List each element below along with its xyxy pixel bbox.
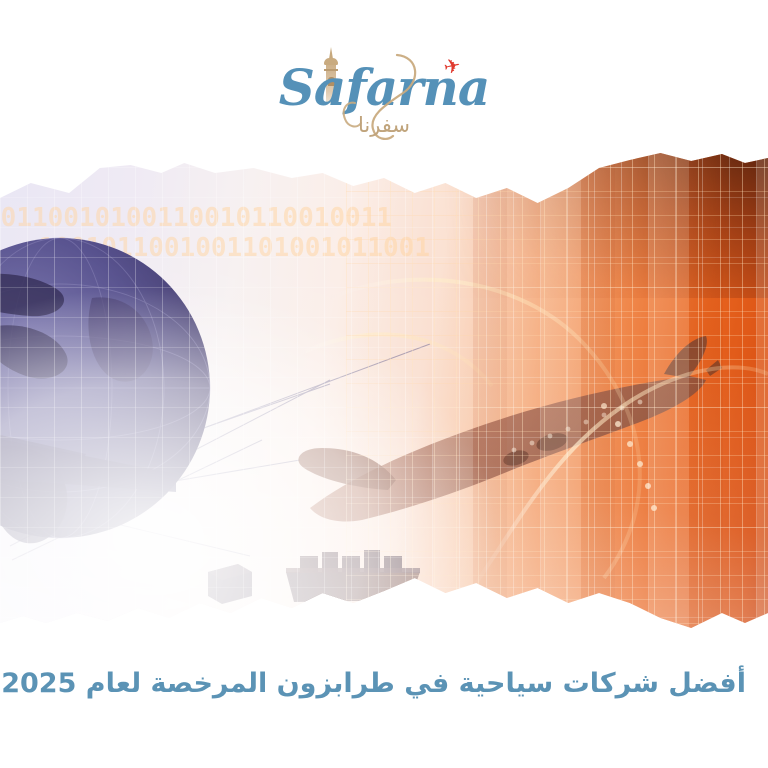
brand-logo[interactable]: Safarna ✈ سفرنا	[0, 36, 768, 151]
hero-torn-clip: 0100110010100110010110010011 10010110010…	[0, 148, 768, 648]
logo-lockup: Safarna ✈ سفرنا	[269, 41, 499, 146]
logo-arabic-name: سفرنا	[269, 115, 499, 136]
crane-silhouette	[372, 591, 394, 632]
logo-wordmark: Safarna	[269, 63, 499, 113]
port-crane-silhouette	[0, 640, 22, 648]
hero-banner: 0100110010100110010110010011 10010110010…	[0, 148, 768, 648]
poster-caption: أفضل شركات سياحية في طرابزون المرخصة لعا…	[0, 666, 768, 702]
poster-canvas: Safarna ✈ سفرنا	[0, 0, 768, 768]
cargo-ship-large-graphic	[232, 614, 556, 648]
hero-white-fog	[0, 148, 768, 648]
